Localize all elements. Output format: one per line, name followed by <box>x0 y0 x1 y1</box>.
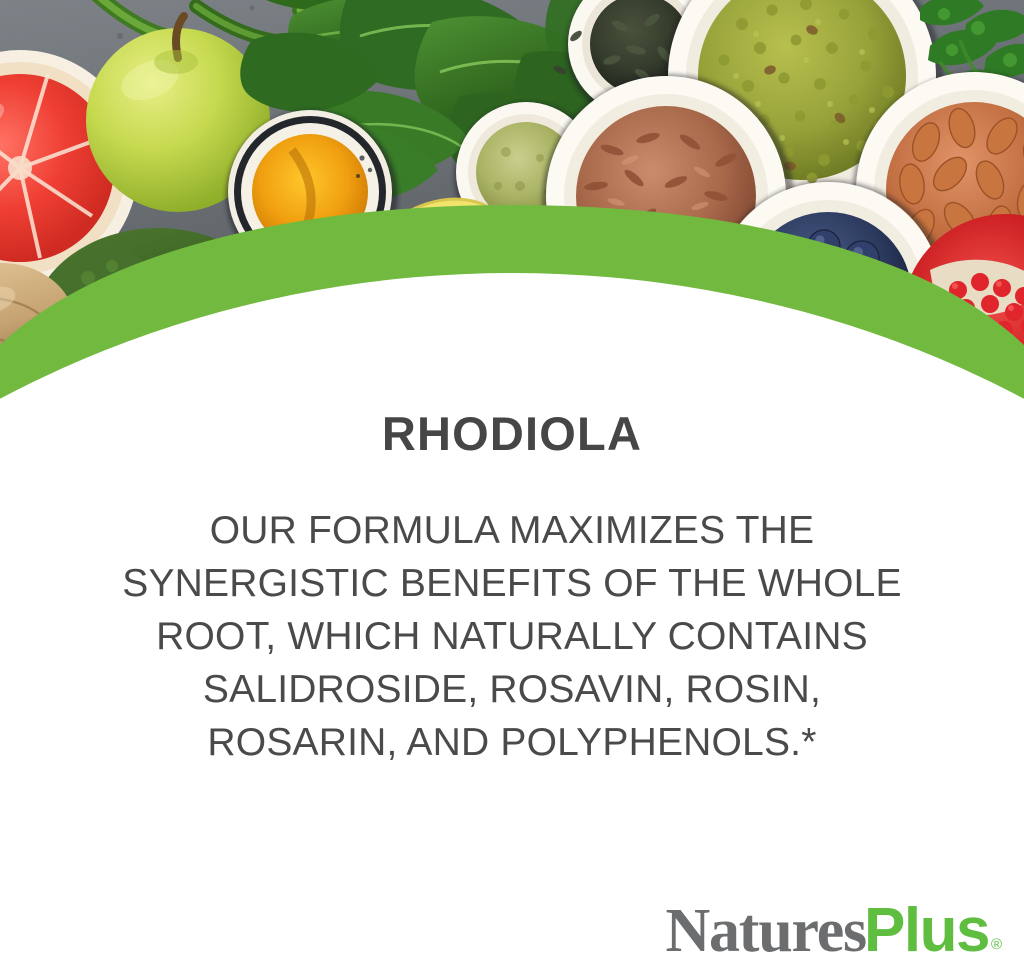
hemp-powder-bowl <box>492 210 608 326</box>
page-title: RHODIOLA <box>0 330 1024 457</box>
naturesplus-logo: Natures Plus ® <box>665 900 1002 962</box>
body-line-5: ROSARIN, AND POLYPHENOLS.* <box>97 716 927 769</box>
turmeric-powder-bowl <box>226 110 398 282</box>
registered-trademark-icon: ® <box>991 937 1002 952</box>
body-copy: OUR FORMULA MAXIMIZES THE SYNERGISTIC BE… <box>97 457 927 769</box>
body-line-3: ROOT, WHICH NATURALLY CONTAINS <box>97 610 927 663</box>
promo-card: RHODIOLA OUR FORMULA MAXIMIZES THE SYNER… <box>0 0 1024 976</box>
logo-plus-word: Plus <box>864 900 989 962</box>
content-block: RHODIOLA OUR FORMULA MAXIMIZES THE SYNER… <box>0 330 1024 769</box>
body-line-4: SALIDROSIDE, ROSAVIN, ROSIN, <box>97 663 927 716</box>
body-line-1: OUR FORMULA MAXIMIZES THE <box>97 504 927 557</box>
logo-natures-word: Natures <box>665 900 866 962</box>
body-line-2: SYNERGISTIC BENEFITS OF THE WHOLE <box>97 557 927 610</box>
